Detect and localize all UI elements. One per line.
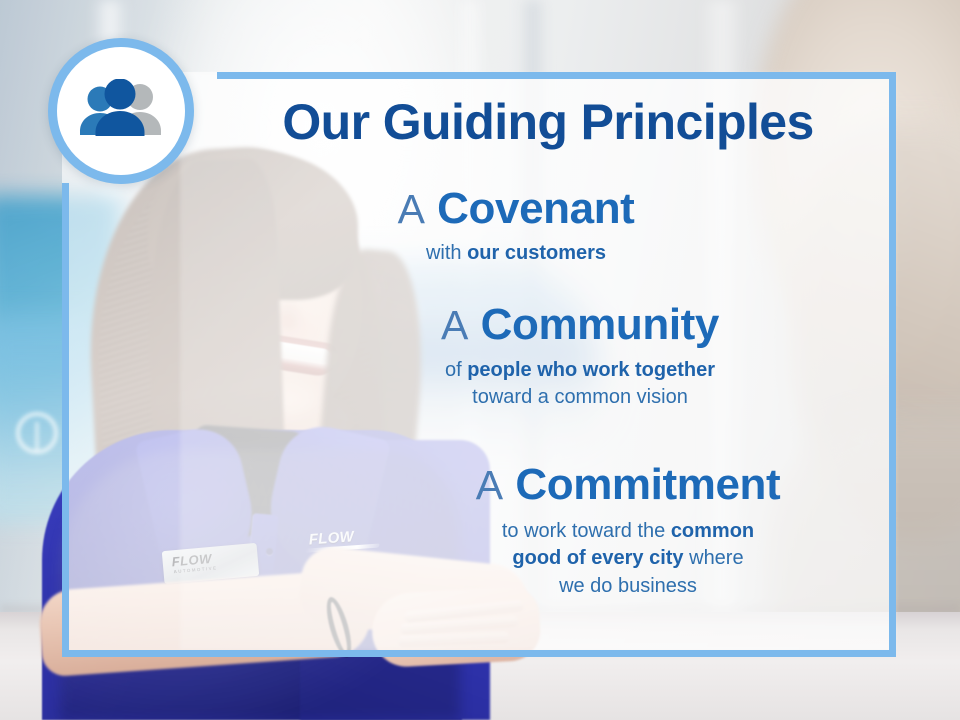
principle-word: Commitment (515, 460, 780, 509)
principle-sublines: to work toward the common good of every … (358, 518, 898, 601)
principle-headline: A Community (300, 302, 860, 348)
principle-subline: with our customers (256, 240, 776, 268)
principle-headline: A Covenant (256, 186, 776, 232)
principle-headline: A Commitment (358, 462, 898, 508)
graphic-canvas: FLOW AUTOMOTIVE FLOW (0, 0, 960, 720)
principle-subline: we do business (358, 573, 898, 601)
principle-article: A (398, 186, 425, 232)
subline-part: toward a common vision (472, 386, 688, 408)
principle-sublines: of people who work together toward a com… (300, 357, 860, 412)
subline-part: we do business (559, 575, 697, 597)
principle-word: Community (481, 300, 719, 349)
principle-subline: good of every city where (358, 545, 898, 573)
subline-part: where (684, 547, 744, 569)
subline-part-bold: good of every city (512, 547, 683, 569)
principle-word: Covenant (437, 184, 634, 233)
subline-part-bold: our customers (467, 242, 606, 264)
principle-community: A Community of people who work together … (300, 302, 860, 412)
principle-article: A (476, 462, 503, 508)
principle-commitment: A Commitment to work toward the common g… (358, 462, 898, 601)
subline-part: to work toward the (502, 520, 671, 542)
principle-article: A (441, 302, 468, 348)
principle-sublines: with our customers (256, 240, 776, 268)
principle-subline: of people who work together (300, 357, 860, 385)
principle-subline: to work toward the common (358, 518, 898, 546)
subline-part-bold: common (671, 520, 754, 542)
subline-part: of (445, 359, 467, 381)
page-title: Our Guiding Principles (218, 96, 878, 149)
subline-part-bold: people who work together (467, 359, 715, 381)
principle-covenant: A Covenant with our customers (256, 186, 776, 267)
principle-subline: toward a common vision (300, 384, 860, 412)
text-content: Our Guiding Principles A Covenant with o… (0, 0, 960, 720)
subline-part: with (426, 242, 467, 264)
